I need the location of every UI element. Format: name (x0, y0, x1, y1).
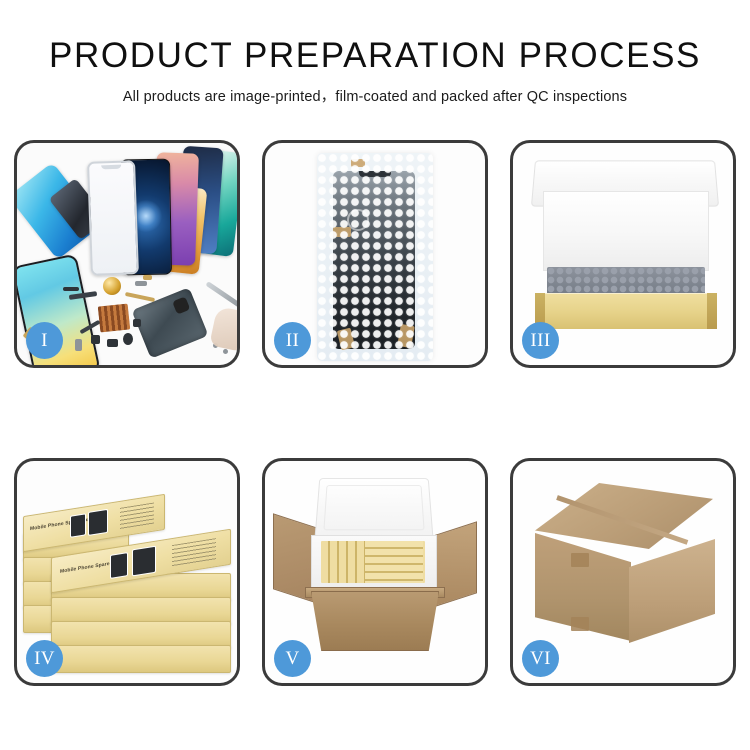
small-component-part (91, 335, 100, 344)
small-component-part (143, 275, 152, 280)
white-foam-sheet (543, 191, 709, 271)
step-panel-4[interactable]: Mobile Phone Spare Parts Mobile Phone Sp… (14, 458, 240, 686)
step-panel-6[interactable]: VI (510, 458, 736, 686)
step-badge-5: V (274, 640, 311, 677)
box-window-image (88, 509, 108, 536)
bubble-wrap-pouch (317, 153, 433, 361)
step-badge-3: III (522, 322, 559, 359)
tweezers-tool (205, 281, 237, 310)
step-panel-5[interactable]: V (262, 458, 488, 686)
box-window-image (132, 546, 156, 577)
step-badge-1: I (26, 322, 63, 359)
page-subtitle: All products are image-printed，film-coat… (0, 85, 750, 106)
packed-yellow-boxes-row2 (365, 541, 423, 583)
box-window-image (70, 513, 86, 538)
tape-piece (333, 227, 351, 237)
carton-right-face (629, 539, 715, 643)
screw-part (223, 349, 228, 354)
tape-piece (351, 159, 365, 167)
process-steps-grid: I II III (14, 140, 736, 686)
small-component-part (135, 281, 147, 286)
page-title: PRODUCT PREPARATION PROCESS (0, 38, 750, 73)
carton-tape-lower (571, 617, 589, 631)
box-spec-lines (172, 538, 216, 567)
step-badge-4: IV (26, 640, 63, 677)
page-header: PRODUCT PREPARATION PROCESS All products… (0, 0, 750, 106)
stacked-box (51, 645, 231, 673)
small-component-part (123, 333, 133, 345)
step-panel-3[interactable]: III (510, 140, 736, 368)
yellow-box-base (535, 293, 717, 329)
step-badge-2: II (274, 322, 311, 359)
vibration-motor-part (103, 277, 121, 295)
carton-front-wall (311, 591, 439, 651)
flex-cable-part (125, 292, 155, 302)
phone-front-glass (87, 160, 139, 276)
foam-box-lid (314, 478, 433, 538)
screen-notch (359, 171, 391, 177)
box-window-image (110, 552, 128, 579)
small-component-part (63, 287, 79, 291)
small-component-part (107, 339, 118, 347)
step-panel-2[interactable]: II (262, 140, 488, 368)
small-component-part (133, 319, 141, 327)
wrapped-screen-assembly (333, 171, 415, 349)
small-component-part (75, 339, 82, 351)
step-badge-6: VI (522, 640, 559, 677)
camera-module-part (172, 296, 190, 314)
box-spec-lines (120, 502, 154, 529)
carton-tape-upper (571, 553, 589, 567)
screw-tray-part (98, 304, 131, 333)
step-panel-1[interactable]: I (14, 140, 240, 368)
